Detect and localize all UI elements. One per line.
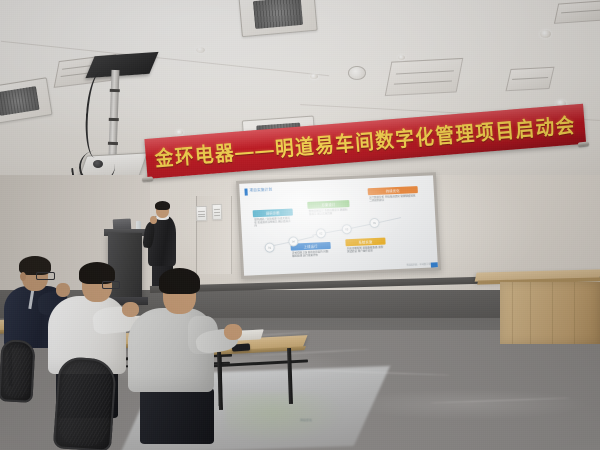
attendee-navy-hand [56, 283, 70, 297]
slide-title: 项目实施计划 [249, 187, 272, 193]
slide-phase-node-5: 05 [369, 218, 380, 228]
smoke-detector [348, 66, 366, 80]
slide-phase-body-1: 现场调研／业务梳理 访谈关键岗位 形成现状诊断报告 确认改善方向 [254, 217, 292, 228]
lectern [108, 233, 142, 301]
slide-phase-box-3: 系统实施 系统部署配置 基础数据准备 流程测试验证 用户操作培训 [345, 238, 387, 270]
glasses-icon [36, 272, 55, 280]
glasses-icon [102, 281, 120, 289]
slide-phase-body-3: 系统部署配置 基础数据准备 流程测试验证 用户操作培训 [347, 246, 385, 254]
ac-cassette-center [238, 0, 317, 37]
projection-screen: 项目实施计划 调研诊断 现场调研／业务梳理 访谈关键岗位 形成现状诊断报告 确认… [236, 172, 441, 279]
attendee-white-hand [122, 302, 139, 317]
slide-phase-node-1: 01 [264, 242, 275, 252]
downlight-5 [398, 55, 405, 60]
slide-title-accent-bar [244, 189, 247, 196]
slide-phase-box-5: 持续优化 运行数据分析 持续改进优化 管理制度固化 二期规划建议 [368, 186, 420, 221]
projector-light-spill-color [225, 392, 345, 444]
slide-phase-node-3: 03 [342, 224, 353, 234]
presenter-hand [150, 216, 157, 224]
slide-phase-body-5: 运行数据分析 持续改进优化 管理制度固化 二期规划建议 [369, 194, 417, 202]
downlight-1 [310, 74, 318, 79]
attendee-grey-hand [224, 324, 242, 340]
spill-slide-text-2: 持续优化 [300, 418, 312, 422]
presenter-hair [155, 201, 170, 210]
slide-corner-accent [431, 262, 438, 267]
attendee-grey-legs [140, 386, 214, 444]
slide-phase-box-4: 上线运行 正式切换上线 现场驻场支持 问题跟踪处理 运行效果评估 [290, 242, 332, 274]
ceiling-vent-4 [554, 0, 600, 24]
attendee-grey-hair [159, 268, 200, 294]
attendee-navy-ear [20, 272, 26, 281]
side-desk-panel [500, 282, 600, 344]
presentation-slide: 项目实施计划 调研诊断 现场调研／业务梳理 访谈关键岗位 形成现状诊断报告 确认… [239, 175, 438, 275]
downlight-2 [540, 30, 551, 38]
slide-phase-node-2: 02 [316, 228, 327, 238]
slide-phase-body-4: 正式切换上线 现场驻场支持 问题跟踪处理 运行效果评估 [292, 250, 330, 258]
ceiling-vent-3 [505, 67, 554, 92]
ceiling-vent-2 [385, 58, 464, 96]
wall-notice-right [212, 204, 223, 220]
office-chair-2[interactable] [53, 356, 117, 450]
wall-notice-left [196, 206, 208, 221]
slide-phase-body-2: 整体蓝图设计 系统功能定义 数据标准规范 确认实施范围 [309, 208, 349, 216]
slide-phase-box-1: 调研诊断 现场调研／业务梳理 访谈关键岗位 形成现状诊断报告 确认改善方向 [253, 209, 295, 241]
office-chair-1[interactable] [0, 339, 36, 403]
downlight-4 [176, 130, 183, 135]
downlight-6 [196, 47, 205, 53]
meeting-room-photo: 金环电器——明道易车间数字化管理项目启动会 项目实施计划 调研诊断 现场调研／业… [0, 0, 600, 450]
